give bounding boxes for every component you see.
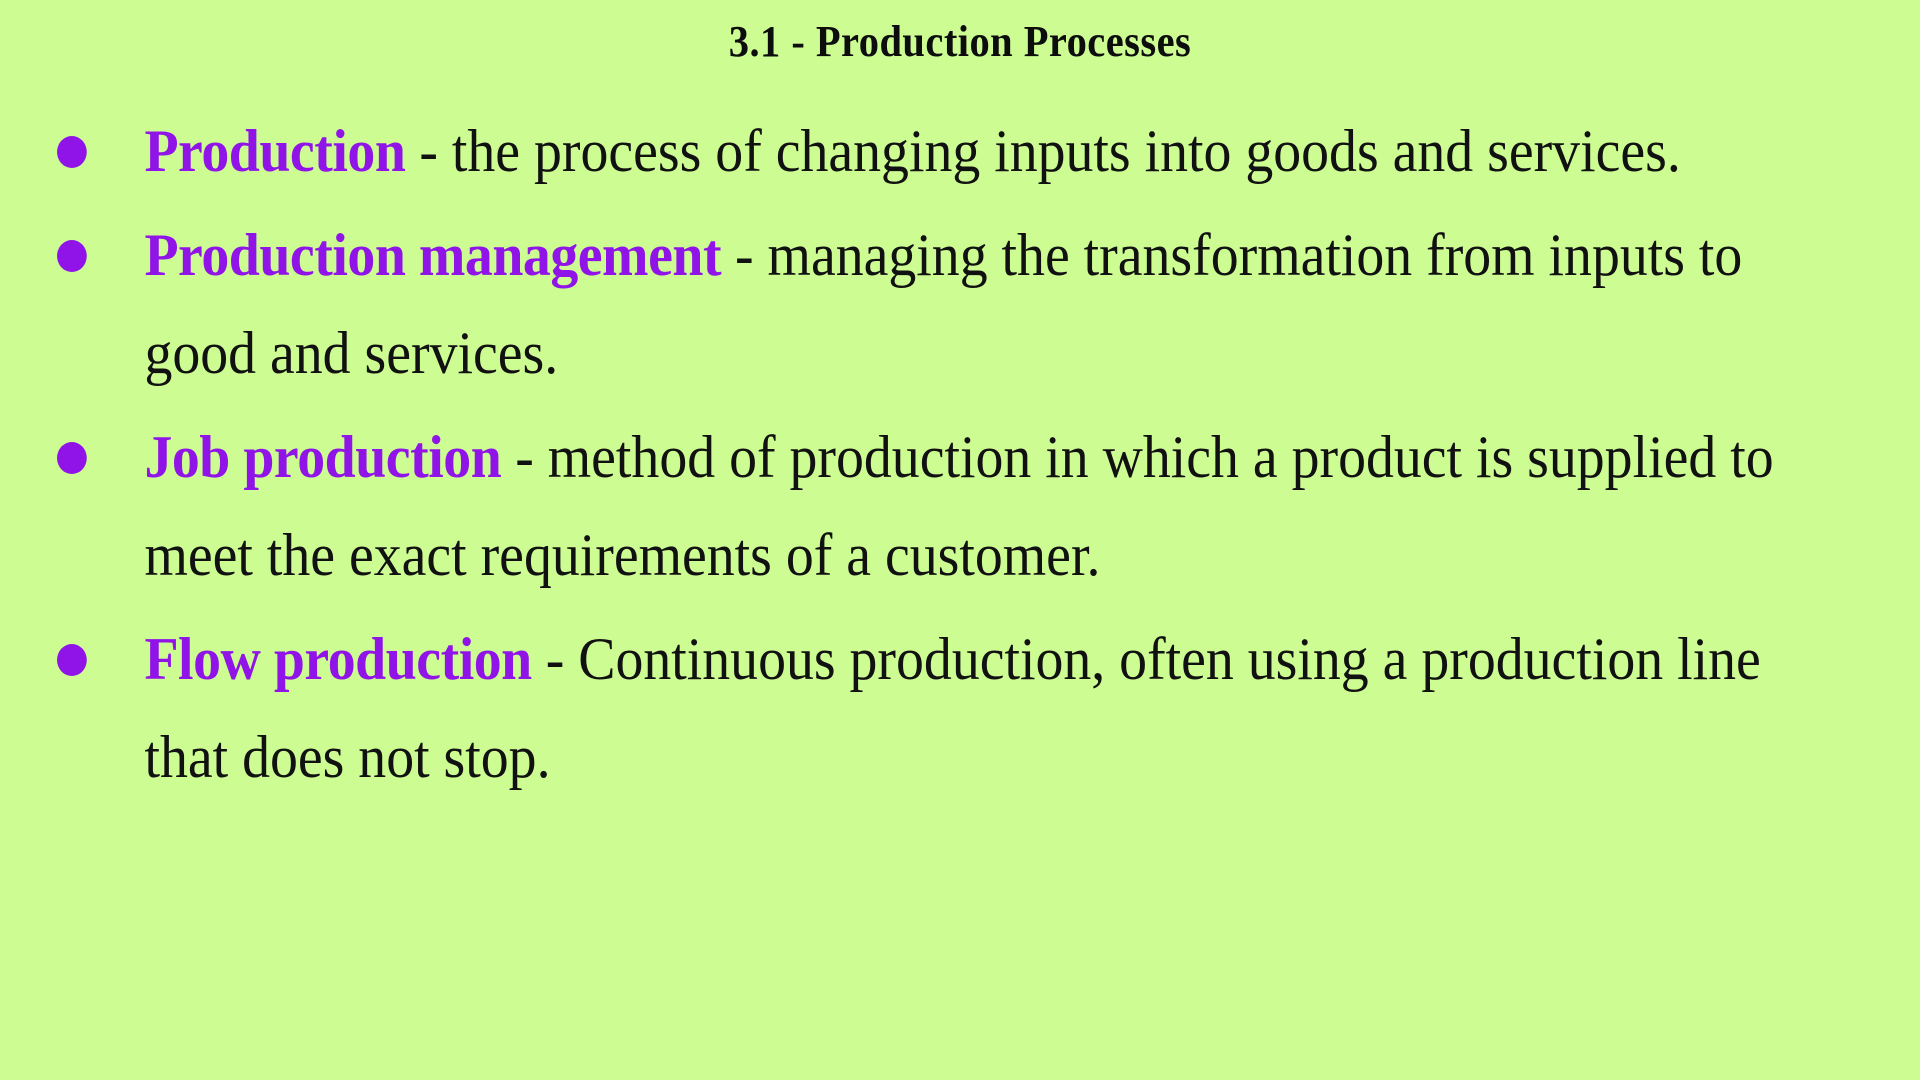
bullet-term: Flow production (144, 626, 531, 692)
bullet-dot-icon (57, 442, 87, 474)
list-item: Production - the process of changing inp… (44, 102, 1774, 200)
list-item: Job production - method of production in… (44, 408, 1774, 604)
bullet-dot-icon (57, 644, 87, 676)
slide-canvas: 3.1 - Production Processes Production - … (0, 0, 1920, 1080)
bullet-separator: - (721, 222, 767, 288)
bullet-dot-icon (57, 136, 87, 168)
bullet-separator: - (532, 626, 578, 692)
bullet-separator: - (405, 118, 451, 184)
bullet-term: Production (144, 118, 405, 184)
bullet-dot-icon (57, 240, 87, 272)
bullet-definition: the process of changing inputs into good… (452, 118, 1681, 184)
bullet-term: Production management (144, 222, 721, 288)
list-item: Production management - managing the tra… (44, 206, 1774, 402)
page-title: 3.1 - Production Processes (77, 16, 1843, 68)
bullet-separator: - (501, 424, 547, 490)
bullet-list: Production - the process of changing inp… (44, 102, 1904, 812)
bullet-term: Job production (144, 424, 501, 490)
list-item: Flow production - Continuous production,… (44, 610, 1774, 806)
